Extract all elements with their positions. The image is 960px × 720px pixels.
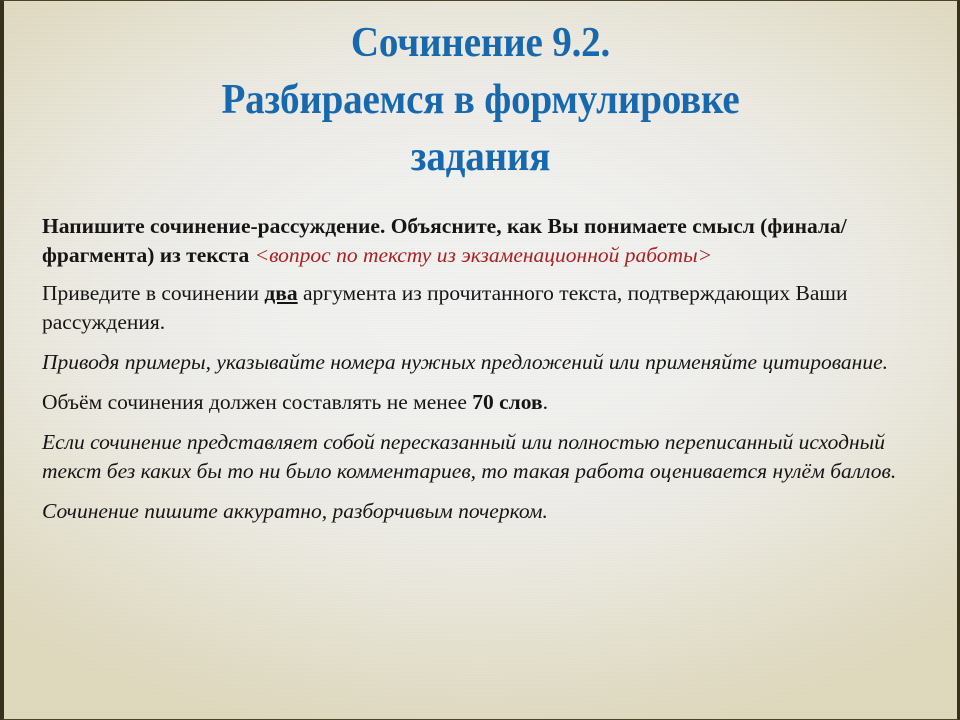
paragraph-retelling-warning: Если сочинение представляет собой переск… (42, 428, 919, 486)
paragraph-task-intro: Напишите сочинение-рассуждение. Объяснит… (42, 212, 919, 270)
slide-content: Сочинение 9.2. Разбираемся в формулировк… (4, 1, 957, 719)
paragraph-handwriting: Сочинение пишите аккуратно, разборчивым … (42, 497, 919, 526)
slide-body: Напишите сочинение-рассуждение. Объяснит… (4, 186, 957, 526)
volume-word-count-emphasis: 70 слов (472, 390, 542, 414)
title-line-3: задания (127, 129, 835, 186)
arguments-text-before: Приведите в сочинении (42, 281, 264, 305)
handwriting-text: Сочинение пишите аккуратно, разборчивым … (42, 499, 548, 523)
paragraph-examples: Приводя примеры, указывайте номера нужны… (42, 348, 919, 377)
retelling-warning-text: Если сочинение представляет собой переск… (42, 430, 896, 483)
slide-title: Сочинение 9.2. Разбираемся в формулировк… (4, 1, 957, 186)
presentation-slide: Сочинение 9.2. Разбираемся в формулировк… (0, 0, 960, 720)
title-line-2: Разбираемся в формулировке (127, 72, 835, 129)
volume-text-before: Объём сочинения должен составлять не мен… (42, 390, 472, 414)
arguments-count-emphasis: два (264, 281, 297, 305)
paragraph-arguments: Приведите в сочинении два аргумента из п… (42, 279, 919, 337)
examples-text: Приводя примеры, указывайте номера нужны… (42, 350, 888, 374)
title-line-1: Сочинение 9.2. (127, 15, 835, 72)
task-intro-question-placeholder: <вопрос по тексту из экзаменационной раб… (255, 243, 713, 267)
paragraph-volume: Объём сочинения должен составлять не мен… (42, 388, 919, 417)
volume-text-after: . (543, 390, 548, 414)
